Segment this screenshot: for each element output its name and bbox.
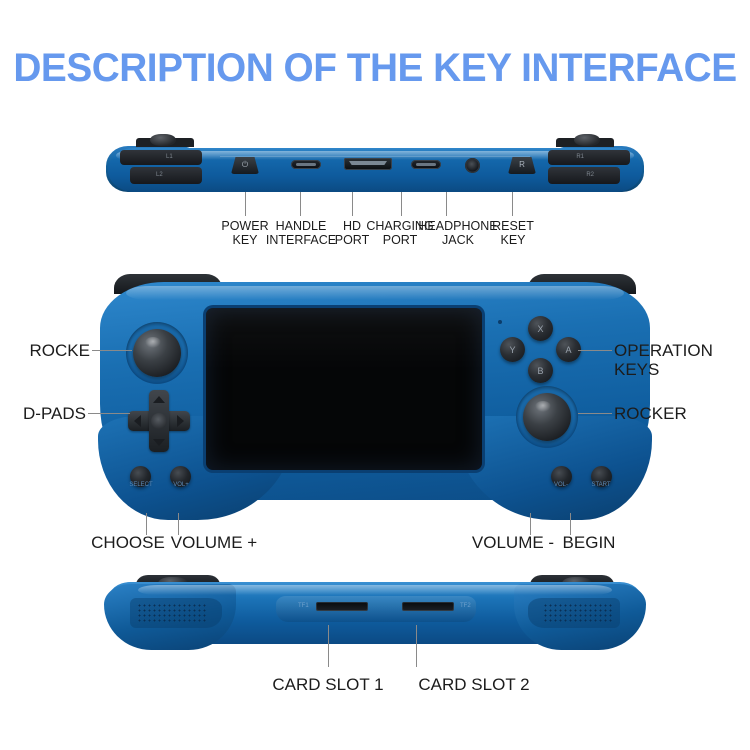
right-speaker-grille bbox=[528, 598, 620, 628]
leader-begin bbox=[570, 513, 571, 535]
leader-card-slot-1 bbox=[328, 625, 329, 667]
leader-power-key bbox=[245, 192, 246, 216]
leader-headphone-jack bbox=[446, 192, 447, 216]
label-choose: CHOOSE bbox=[86, 533, 170, 552]
button-y[interactable]: Y bbox=[500, 337, 525, 362]
sensor-pinhole bbox=[498, 320, 502, 324]
label-card-slot-2: CARD SLOT 2 bbox=[394, 675, 554, 694]
leader-d-pads bbox=[88, 413, 130, 414]
d-pad-center bbox=[151, 413, 167, 429]
left-speaker-holes bbox=[137, 603, 206, 623]
d-pad-left-arrow-icon bbox=[134, 415, 141, 427]
leader-operation-keys bbox=[578, 350, 612, 351]
top-view-seam bbox=[220, 156, 530, 157]
shoulder-label-l1: L1 bbox=[166, 154, 173, 160]
charging-port[interactable] bbox=[411, 160, 441, 169]
right-stick-top-profile bbox=[574, 134, 600, 146]
card-slot-1[interactable] bbox=[316, 602, 368, 611]
shoulder-button-r2[interactable] bbox=[548, 167, 620, 184]
handle-interface-port[interactable] bbox=[291, 160, 321, 169]
product-diagram-page: DESCRIPTION OF THE KEY INTERFACE L1 L2 R… bbox=[0, 0, 750, 750]
left-stick-top-profile bbox=[150, 134, 176, 146]
label-d-pads: D-PADS bbox=[6, 404, 86, 423]
label-operation-keys: OPERATION KEYS bbox=[614, 341, 750, 379]
leader-rocker-right bbox=[578, 413, 612, 414]
left-rocker[interactable] bbox=[133, 329, 181, 377]
button-y-label: Y bbox=[500, 337, 525, 362]
start-button-tag: START bbox=[578, 482, 624, 488]
left-rocker-well bbox=[126, 322, 188, 384]
label-rocker-left: ROCKE bbox=[10, 341, 90, 360]
right-rocker[interactable] bbox=[523, 393, 571, 441]
card-slot-2-tag: TF2 bbox=[460, 603, 471, 609]
d-pad-right-arrow-icon bbox=[177, 415, 184, 427]
label-rocker-right: ROCKER bbox=[614, 404, 724, 423]
reset-icon: R bbox=[508, 160, 536, 169]
hd-port[interactable] bbox=[344, 158, 392, 170]
card-slot-1-tag: TF1 bbox=[298, 603, 309, 609]
button-b-label: B bbox=[528, 358, 553, 383]
front-view: SELECT VOL+ X Y A B VOL- START bbox=[100, 282, 650, 514]
label-volume-up: VOLUME + bbox=[166, 533, 262, 552]
button-b[interactable]: B bbox=[528, 358, 553, 383]
label-card-slot-1: CARD SLOT 1 bbox=[248, 675, 408, 694]
leader-hd-port bbox=[352, 192, 353, 216]
power-icon: ⏻ bbox=[231, 160, 259, 170]
d-pad[interactable] bbox=[128, 390, 190, 452]
leader-charging-port bbox=[401, 192, 402, 216]
shoulder-button-l2[interactable] bbox=[130, 167, 202, 184]
shoulder-button-r1[interactable] bbox=[548, 150, 630, 165]
leader-volume-up bbox=[178, 513, 179, 535]
right-speaker-holes bbox=[544, 603, 613, 623]
d-pad-up-arrow-icon bbox=[153, 396, 165, 403]
button-x[interactable]: X bbox=[528, 316, 553, 341]
leader-handle-interface bbox=[300, 192, 301, 216]
right-rocker-well bbox=[516, 386, 578, 448]
shoulder-label-r2: R2 bbox=[586, 172, 594, 178]
bottom-body-highlight bbox=[138, 585, 612, 595]
page-title: DESCRIPTION OF THE KEY INTERFACE bbox=[11, 46, 739, 91]
volume-up-button-tag: VOL+ bbox=[158, 482, 204, 488]
front-body-highlight bbox=[126, 286, 624, 300]
leader-rocker-left bbox=[92, 350, 132, 351]
leader-reset-key bbox=[512, 192, 513, 216]
headphone-jack[interactable] bbox=[465, 158, 480, 173]
leader-volume-down bbox=[530, 513, 531, 535]
label-volume-down: VOLUME - bbox=[466, 533, 560, 552]
shoulder-label-r1: R1 bbox=[576, 154, 584, 160]
button-x-label: X bbox=[528, 316, 553, 341]
shoulder-button-l1[interactable] bbox=[120, 150, 202, 165]
left-speaker-grille bbox=[130, 598, 222, 628]
top-edge-view: L1 L2 R1 R2 ⏻ R bbox=[108, 136, 642, 198]
leader-card-slot-2 bbox=[416, 625, 417, 667]
leader-choose bbox=[146, 513, 147, 535]
d-pad-down-arrow-icon bbox=[153, 439, 165, 446]
bottom-edge-view: TF1 TF2 bbox=[108, 582, 642, 658]
card-slot-2[interactable] bbox=[402, 602, 454, 611]
reset-key[interactable]: R bbox=[508, 157, 536, 174]
shoulder-label-l2: L2 bbox=[156, 172, 163, 178]
power-key[interactable]: ⏻ bbox=[231, 157, 259, 174]
display-screen[interactable] bbox=[206, 308, 482, 470]
label-begin: BEGIN bbox=[552, 533, 626, 552]
label-reset-key: RESET KEY bbox=[487, 220, 539, 247]
